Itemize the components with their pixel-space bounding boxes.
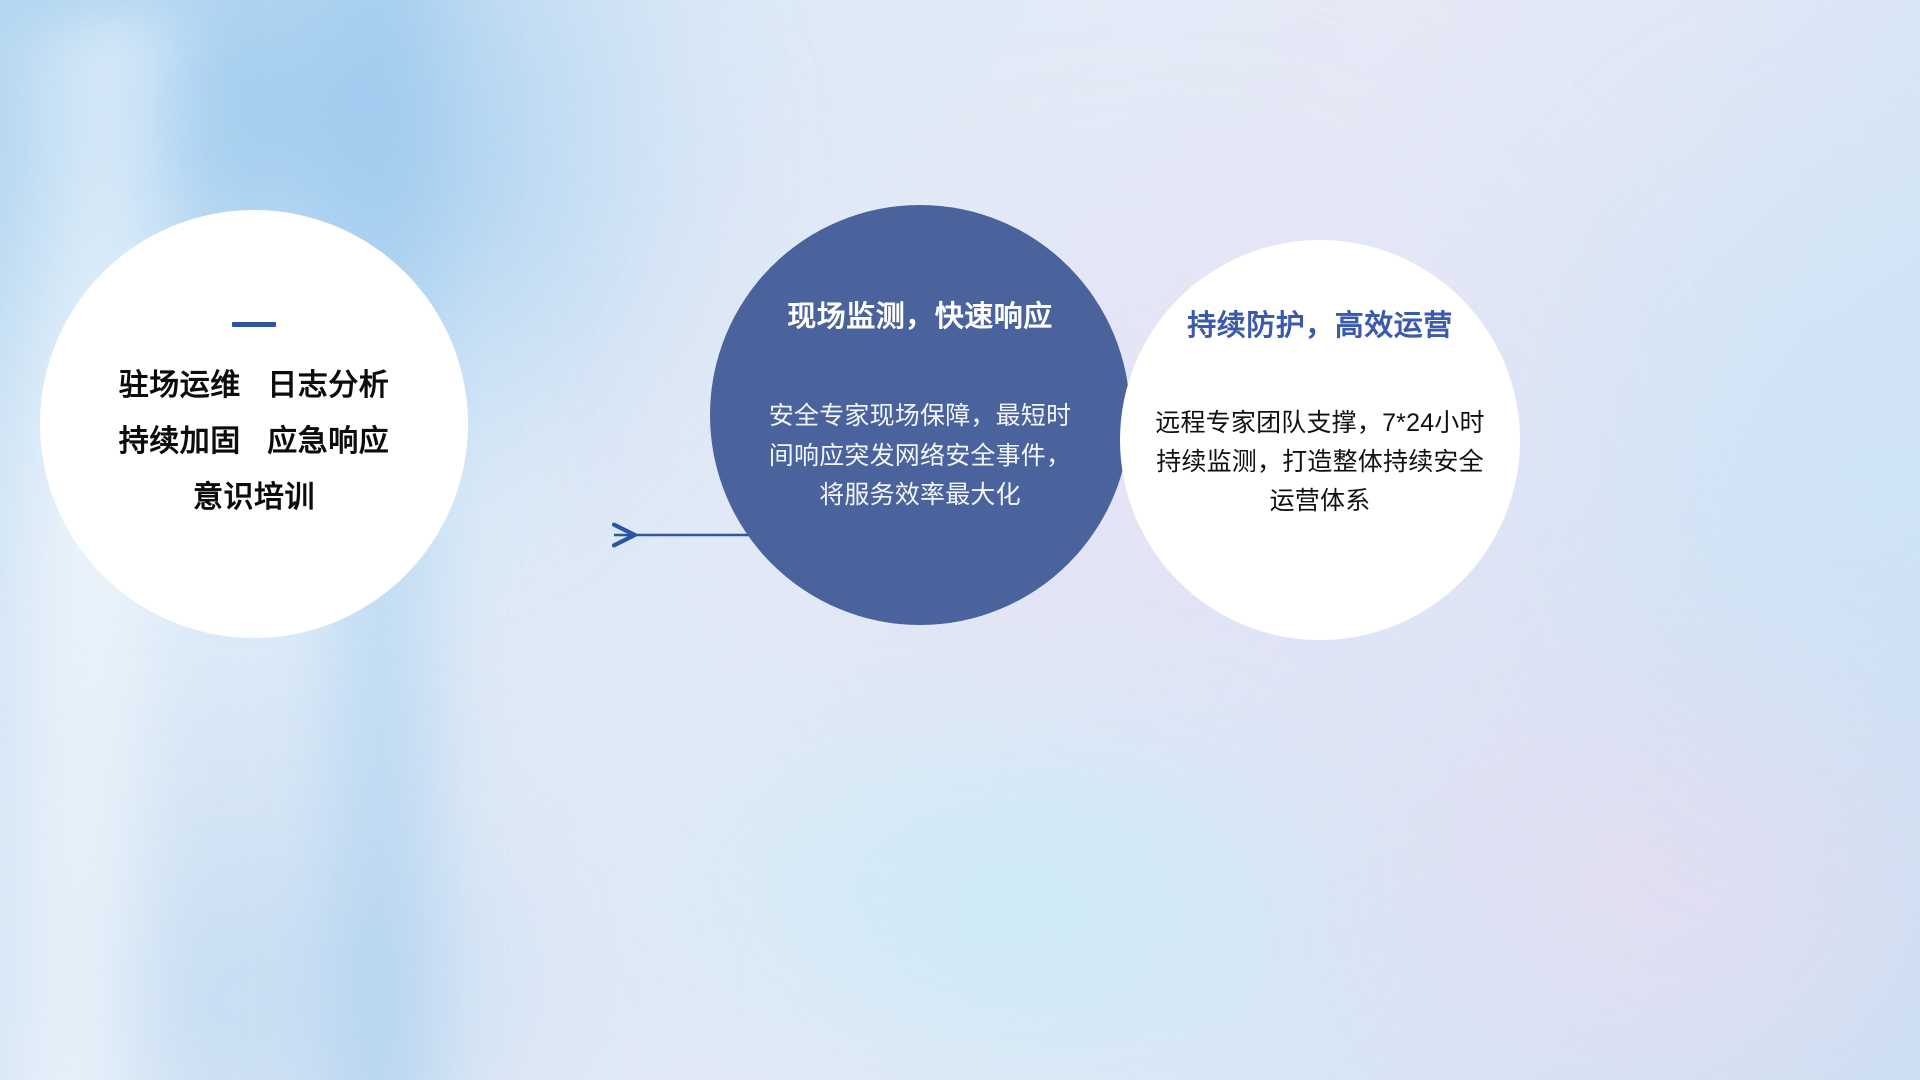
capability-keyword-list: 驻场运维 日志分析 持续加固 应急响应 意识培训 [119, 371, 390, 513]
list-item: 持续加固 应急响应 [119, 427, 390, 457]
capabilities-circle[interactable]: 驻场运维 日志分析 持续加固 应急响应 意识培训 [40, 210, 468, 638]
onsite-circle-body: 安全专家现场保障，最短时间响应突发网络安全事件，将服务效率最大化 [768, 397, 1073, 516]
continuous-circle-body: 远程专家团队支撑，7*24小时持续监测，打造整体持续安全运营体系 [1155, 404, 1485, 521]
list-item: 意识培训 [119, 483, 390, 513]
onsite-monitoring-circle[interactable]: 现场监测，快速响应 安全专家现场保障，最短时间响应突发网络安全事件，将服务效率最… [710, 205, 1130, 625]
onsite-circle-title: 现场监测，快速响应 [787, 293, 1053, 335]
continuous-protection-circle[interactable]: 持续防护，高效运营 远程专家团队支撑，7*24小时持续监测，打造整体持续安全运营… [1120, 240, 1520, 640]
list-item: 驻场运维 日志分析 [119, 371, 390, 401]
continuous-circle-title: 持续防护，高效运营 [1187, 302, 1453, 344]
accent-divider-icon [232, 322, 276, 327]
background-bloom-right-edge [1540, 80, 1920, 840]
background-bloom-lower-center [560, 640, 1460, 1080]
background-bloom-bottom-left [0, 760, 640, 1080]
slide-canvas: 驻场运维 日志分析 持续加固 应急响应 意识培训 现场监测，快速响应 安全专家现… [0, 0, 1920, 1080]
background-bloom-right [1280, 560, 1920, 1080]
